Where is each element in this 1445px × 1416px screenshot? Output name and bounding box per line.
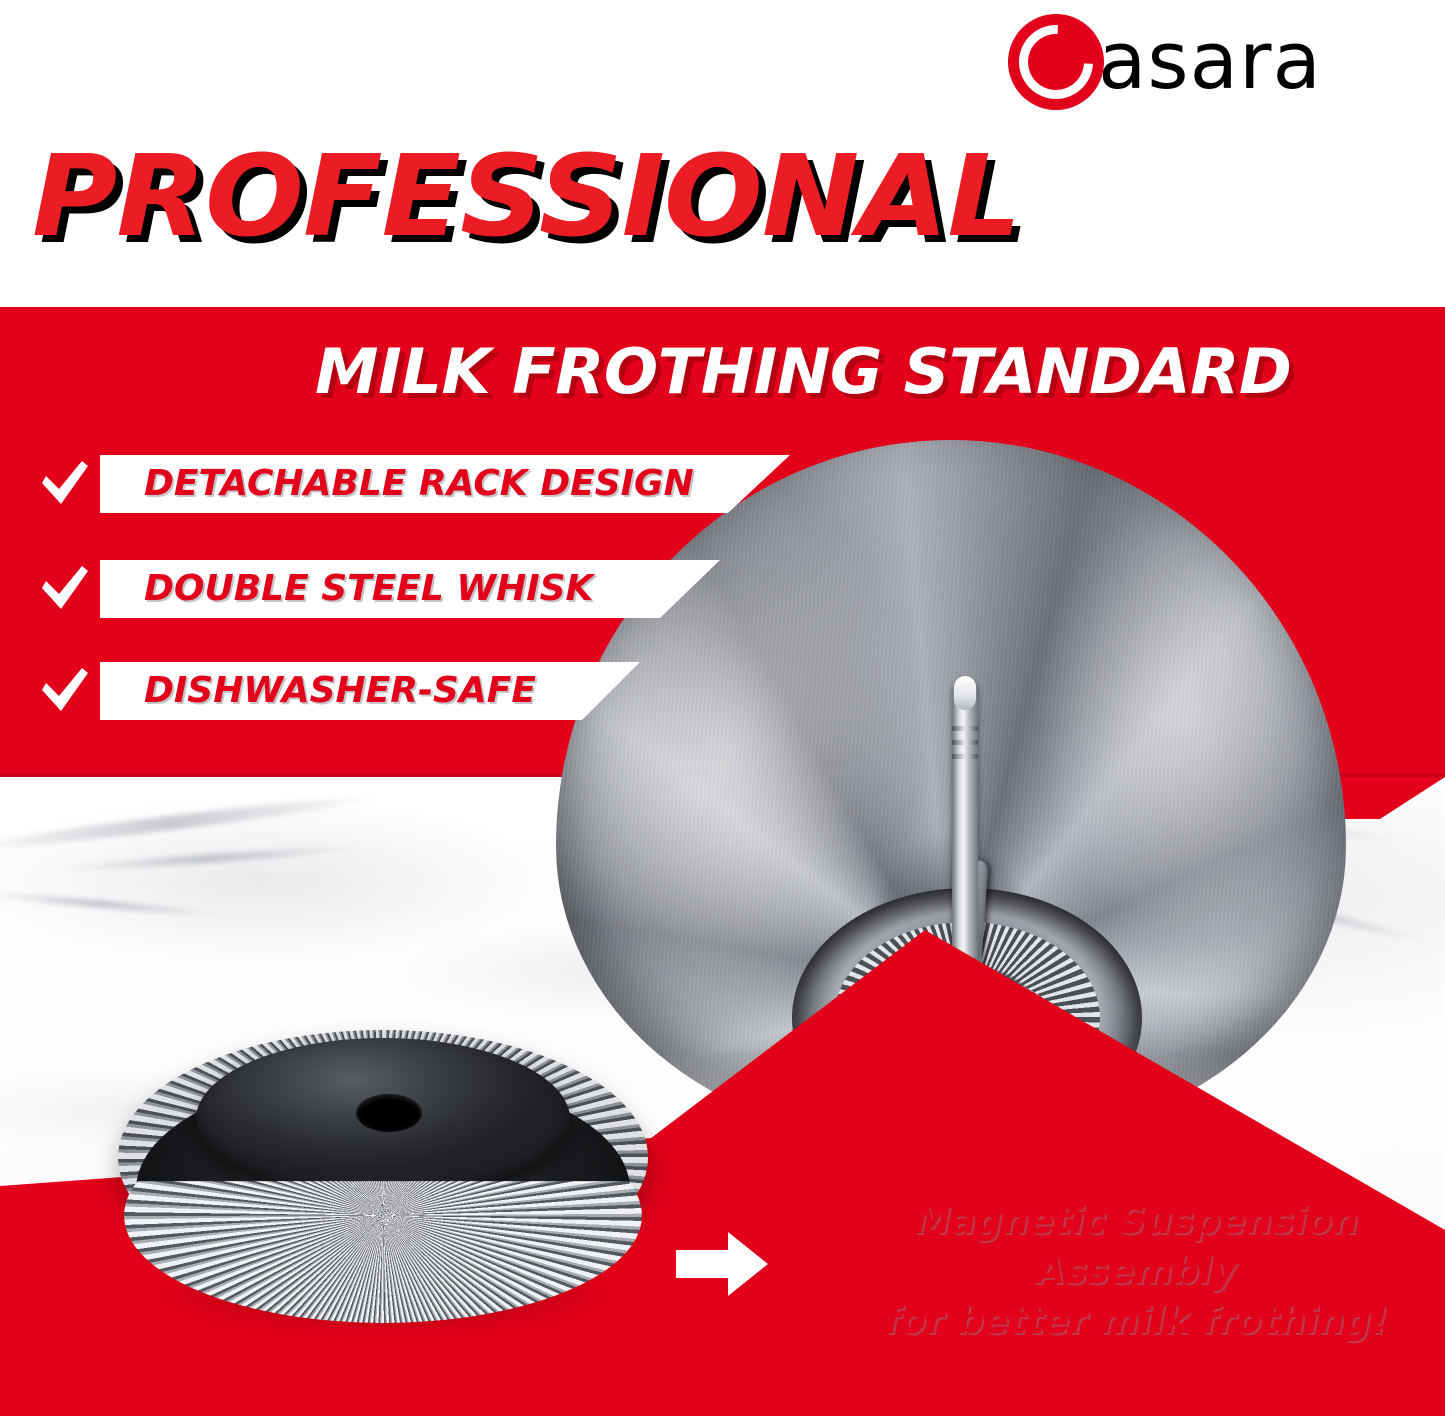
brand-logo: asara [1008, 12, 1408, 112]
product-infographic: asara PROFESSIONAL MILK FROTHING STANDAR… [0, 0, 1445, 1416]
brand-name: asara [1098, 26, 1322, 97]
page-subtitle: MILK FROTHING STANDARD [315, 341, 1291, 403]
page-title: PROFESSIONAL [32, 141, 1021, 253]
feature-label: DISHWASHER-SAFE [144, 671, 536, 711]
checkmark-icon [38, 564, 92, 614]
caption-line-2: for better milk frothing! [836, 1296, 1436, 1346]
checkmark-icon [38, 666, 92, 716]
feature-label: DETACHABLE RACK DESIGN [144, 464, 694, 504]
caption-text: Magnetic Suspension Assembly for better … [836, 1196, 1436, 1346]
feature-item: DETACHABLE RACK DESIGN [0, 455, 760, 513]
feature-item: DOUBLE STEEL WHISK [0, 560, 760, 618]
feature-label: DOUBLE STEEL WHISK [144, 569, 593, 609]
detachable-whisk-ring-photo [118, 1012, 648, 1342]
checkmark-icon [38, 459, 92, 509]
circle-c-mark-icon [1008, 14, 1104, 110]
feature-item: DISHWASHER-SAFE [0, 662, 760, 720]
caption-line-1: Magnetic Suspension Assembly [914, 1199, 1358, 1292]
arrow-right-icon [676, 1232, 768, 1296]
